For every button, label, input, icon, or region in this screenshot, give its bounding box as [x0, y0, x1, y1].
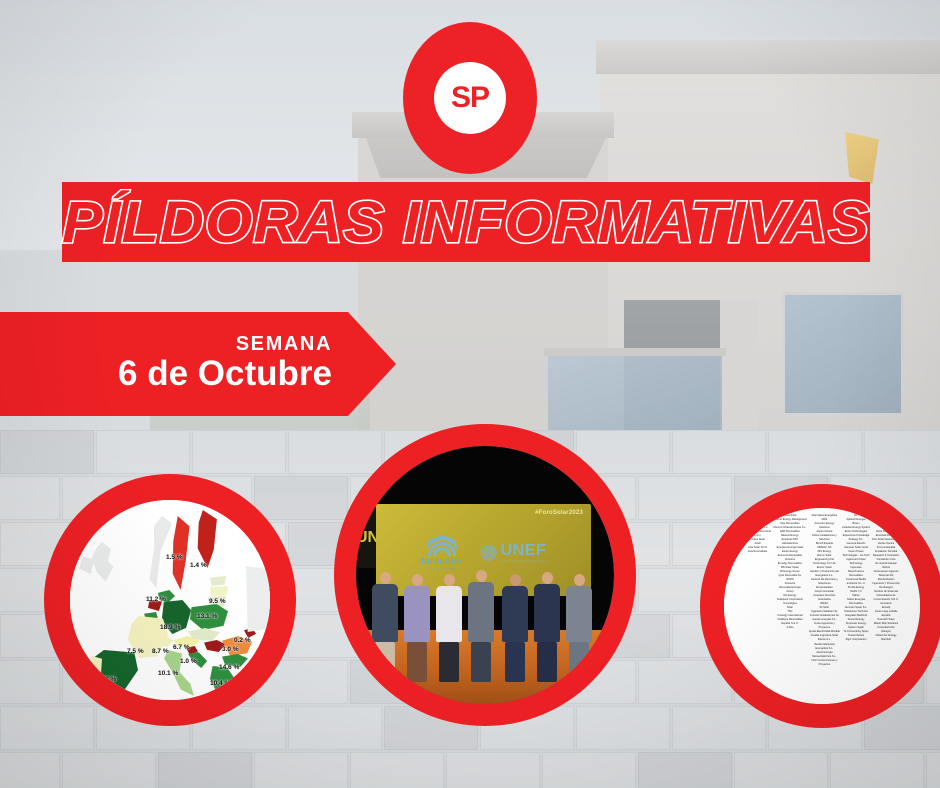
map-value-label: 10.4 %	[210, 680, 230, 687]
company-name: Proyectos	[819, 663, 831, 667]
sp-logo: SP	[403, 22, 537, 174]
event-photo: UNEF #ForoSolar2023 forosolar 8 edición …	[356, 446, 614, 704]
map-value-label: 3.0 %	[222, 646, 239, 653]
poster-canvas: SP PÍLDORAS INFORMATIVAS SEMANA 6 de Oct…	[0, 0, 940, 788]
europe-map-circle[interactable]: 1.5 %1.4 %11.2 %9.5 %13.1 %18.9 %6.7 %7.…	[44, 474, 296, 726]
sp-logo-text: SP	[451, 83, 489, 113]
company-list-circle[interactable]: Aberdeen StandardAcciona EnergíaAGM Reno…	[700, 484, 940, 728]
company-list-column: DFAplitech EnergíaBraunCuardan Energy Sy…	[842, 514, 870, 698]
person-silhouette	[372, 572, 398, 682]
map-value-label: 10.1 %	[158, 670, 178, 677]
map-region	[246, 566, 270, 632]
map-value-label: 18.9 %	[160, 624, 180, 631]
person-silhouette	[566, 574, 592, 682]
europe-choropleth-map: 1.5 %1.4 %11.2 %9.5 %13.1 %18.9 %6.7 %7.…	[70, 500, 270, 700]
unef-logo: UNEF Unión Española Fotovoltaica	[481, 542, 547, 563]
map-value-label: 14.6 %	[219, 664, 239, 671]
unef-logo-text: UNEF	[501, 542, 547, 560]
company-list-column: Alternativa Energética2000Anovolen Energ…	[809, 514, 840, 698]
person-silhouette	[468, 570, 494, 682]
map-region	[210, 586, 228, 596]
person-silhouette	[436, 574, 462, 682]
screen-logos: forosolar 8 edición UNEF Unión Española …	[376, 534, 591, 571]
unef-mark-icon	[481, 545, 497, 561]
company-list-column: Acula SolarSharmu Energy ManagementSisu …	[773, 514, 807, 698]
forosolar-logo-sub: 8 edición	[427, 566, 456, 571]
sp-logo-inner: SP	[434, 62, 506, 134]
person-silhouette	[502, 574, 528, 682]
company-name: Ramboll	[881, 638, 891, 642]
company-list-column: Delta ElectronicsIberiaDenvir SolarDesio…	[872, 514, 900, 698]
map-value-label: 6.7 %	[173, 644, 190, 651]
person-silhouette	[534, 572, 560, 682]
company-list-frame: Aberdeen StandardAcciona EnergíaAGM Reno…	[724, 508, 920, 704]
forosolar-photo-frame: UNEF #ForoSolar2023 forosolar 8 edición …	[356, 446, 614, 704]
company-name: Axia Renovables	[748, 550, 767, 554]
map-value-label: 8.7 %	[152, 648, 169, 655]
forosolar-logo: forosolar 8 edición	[421, 534, 463, 571]
europe-map-frame: 1.5 %1.4 %11.2 %9.5 %13.1 %18.9 %6.7 %7.…	[70, 500, 270, 700]
page-title: PÍLDORAS INFORMATIVAS	[42, 182, 890, 262]
map-value-label: 1.5 %	[166, 554, 183, 561]
map-value-label: 11.2 %	[146, 596, 166, 603]
company-name: X-Elio	[786, 626, 793, 630]
map-value-label: 7.5 %	[127, 648, 144, 655]
week-date: 6 de Octubre	[118, 354, 332, 394]
map-value-label: 19.8 %	[96, 676, 116, 683]
forosolar-mark-icon	[427, 534, 457, 556]
hashtag-label: #ForoSolar2023	[535, 510, 583, 516]
person-silhouette	[404, 574, 430, 682]
forosolar-logo-text: forosolar	[421, 556, 463, 566]
map-value-label: 9.5 %	[209, 598, 226, 605]
map-value-label: 13.1 %	[197, 613, 217, 620]
map-value-label: 1.0 %	[180, 658, 197, 665]
company-name: Zigor Corporación	[846, 638, 867, 642]
week-label: SEMANA	[236, 334, 332, 354]
map-region	[210, 576, 226, 586]
unef-logo-sub: Unión Española Fotovoltaica	[501, 560, 545, 563]
forosolar-photo-circle[interactable]: UNEF #ForoSolar2023 forosolar 8 edición …	[334, 424, 636, 726]
week-banner: SEMANA 6 de Octubre	[0, 312, 348, 416]
map-value-label: 1.4 %	[190, 562, 207, 569]
map-value-label: 0.2 %	[234, 637, 251, 644]
company-name-list: Aberdeen StandardAcciona EnergíaAGM Reno…	[724, 508, 920, 704]
company-list-column: Aberdeen StandardAcciona EnergíaAGM Reno…	[744, 514, 771, 698]
